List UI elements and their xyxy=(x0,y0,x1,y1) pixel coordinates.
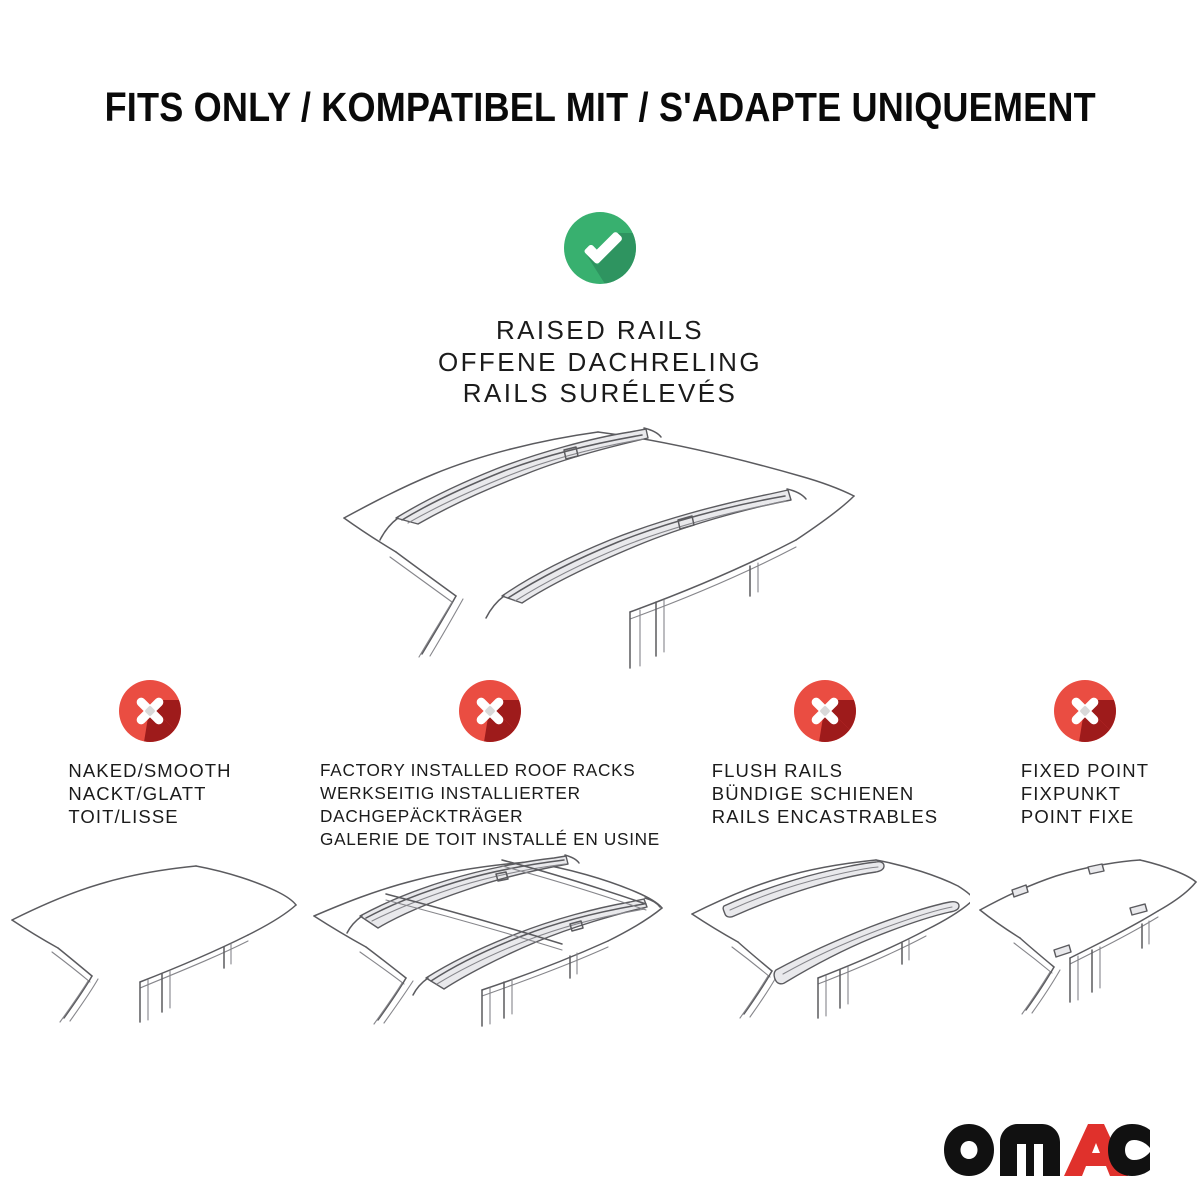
page-title: FITS ONLY / KOMPATIBEL MIT / S'ADAPTE UN… xyxy=(0,83,1200,131)
label-line-fr: TOIT/LISSE xyxy=(68,805,231,828)
omac-logo-letter-m xyxy=(1000,1124,1060,1176)
x-circle-icon xyxy=(119,680,181,742)
incompatible-section: NAKED/SMOOTH NACKT/GLATT TOIT/LISSE xyxy=(0,680,1200,851)
label-line-de: NACKT/GLATT xyxy=(68,782,231,805)
car-roof-factory-roof-racks-illustration xyxy=(300,842,680,1032)
label-line-en: FLUSH RAILS xyxy=(712,759,938,782)
x-circle-icon xyxy=(459,680,521,742)
incompatible-item-fixed-point: FIXED POINT FIXPUNKT POINT FIXE xyxy=(970,680,1200,828)
incompatible-label-naked-smooth: NAKED/SMOOTH NACKT/GLATT TOIT/LISSE xyxy=(68,759,231,828)
label-line-de-2: DACHGEPÄCKTRÄGER xyxy=(320,805,660,828)
compatibility-infographic: FITS ONLY / KOMPATIBEL MIT / S'ADAPTE UN… xyxy=(0,0,1200,1200)
check-circle-icon xyxy=(564,212,636,284)
label-line-en: FACTORY INSTALLED ROOF RACKS xyxy=(320,759,660,782)
incompatible-label-fixed-point: FIXED POINT FIXPUNKT POINT FIXE xyxy=(1021,759,1149,828)
x-circle-icon xyxy=(1054,680,1116,742)
label-line-de: FIXPUNKT xyxy=(1021,782,1149,805)
incompatible-item-flush-rails: FLUSH RAILS BÜNDIGE SCHIENEN RAILS ENCAS… xyxy=(680,680,970,828)
car-roof-raised-rails-illustration xyxy=(330,400,870,670)
incompatible-label-flush-rails: FLUSH RAILS BÜNDIGE SCHIENEN RAILS ENCAS… xyxy=(712,759,938,828)
incompatible-item-factory-roof-racks: FACTORY INSTALLED ROOF RACKS WERKSEITIG … xyxy=(300,680,680,851)
incompatible-label-factory-roof-racks: FACTORY INSTALLED ROOF RACKS WERKSEITIG … xyxy=(320,759,660,851)
omac-logo-letter-c xyxy=(1108,1124,1150,1176)
incompatible-item-naked-smooth: NAKED/SMOOTH NACKT/GLATT TOIT/LISSE xyxy=(0,680,300,828)
label-line-fr: RAILS ENCASTRABLES xyxy=(712,805,938,828)
incompatible-illustrations xyxy=(0,842,1200,1032)
page-title-text: FITS ONLY / KOMPATIBEL MIT / S'ADAPTE UN… xyxy=(104,83,1095,131)
label-line-de: BÜNDIGE SCHIENEN xyxy=(712,782,938,805)
label-line-de-1: WERKSEITIG INSTALLIERTER xyxy=(320,782,660,805)
compatible-label: RAISED RAILS OFFENE DACHRELING RAILS SUR… xyxy=(0,315,1200,410)
car-roof-fixed-point-illustration xyxy=(970,842,1200,1032)
car-roof-naked-smooth-illustration xyxy=(0,842,300,1032)
compatible-section: RAISED RAILS OFFENE DACHRELING RAILS SUR… xyxy=(0,212,1200,410)
compatible-label-line-en: RAISED RAILS xyxy=(0,315,1200,347)
label-line-en: NAKED/SMOOTH xyxy=(68,759,231,782)
compatible-label-line-de: OFFENE DACHRELING xyxy=(0,347,1200,379)
omac-logo xyxy=(942,1122,1152,1178)
x-circle-icon xyxy=(794,680,856,742)
label-line-fr: POINT FIXE xyxy=(1021,805,1149,828)
label-line-en: FIXED POINT xyxy=(1021,759,1149,782)
omac-logo-letter-o xyxy=(944,1124,994,1176)
car-roof-flush-rails-illustration xyxy=(680,842,970,1032)
